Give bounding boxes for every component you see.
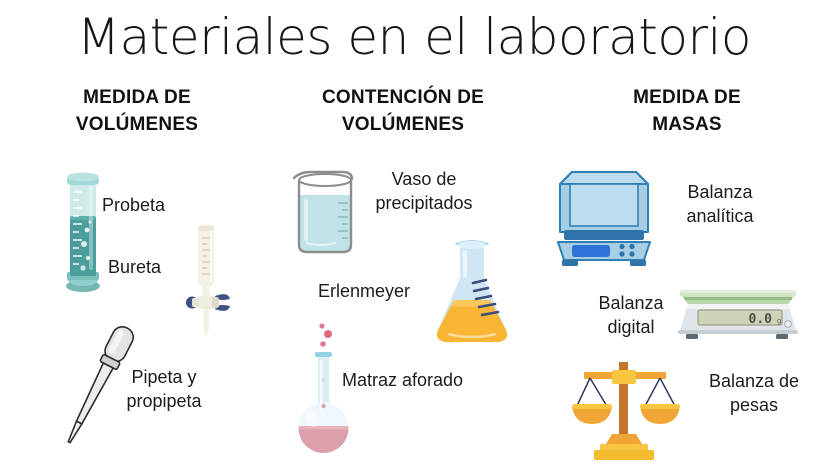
heading-line-1: MEDIDA DE: [18, 84, 256, 111]
heading-line-2: VOLÚMENES: [18, 111, 256, 138]
graduated-cylinder-icon: [60, 168, 106, 294]
heading-line-1: CONTENCIÓN DE: [268, 84, 538, 111]
heading-line-2: VOLÚMENES: [268, 111, 538, 138]
analytical-balance-icon: [550, 164, 658, 268]
heading-line-2: MASAS: [558, 111, 816, 138]
digital-scale-value: 0.0: [749, 312, 773, 327]
label-probeta: Probeta: [102, 193, 212, 217]
label-balanza-analitica: Balanza analítica: [660, 180, 780, 228]
page-title: Materiales en el laboratorio: [0, 6, 828, 68]
beaker-icon: [288, 165, 362, 261]
label-pipeta-propipeta: Pipeta y propipeta: [100, 365, 228, 413]
label-balanza-pesas: Balanza de pesas: [690, 369, 818, 417]
digital-scale-icon: 0.0 g: [676, 282, 800, 344]
label-bureta: Bureta: [108, 255, 218, 279]
label-matraz-aforado: Matraz aforado: [342, 368, 502, 392]
column-heading-medida-masas: MEDIDA DE MASAS: [558, 84, 816, 138]
label-balanza-digital: Balanza digital: [576, 291, 686, 339]
column-heading-medida-volumenes: MEDIDA DE VOLÚMENES: [18, 84, 256, 138]
label-vaso-precipitados: Vaso de precipitados: [352, 167, 496, 215]
label-erlenmeyer: Erlenmeyer: [318, 279, 442, 303]
column-heading-contencion-volumenes: CONTENCIÓN DE VOLÚMENES: [268, 84, 538, 138]
burette-icon: [178, 222, 234, 340]
beam-balance-icon: [564, 358, 686, 462]
laboratory-materials-poster: Materiales en el laboratorio MEDIDA DE V…: [0, 0, 828, 466]
digital-scale-unit: g: [777, 317, 781, 325]
heading-line-1: MEDIDA DE: [558, 84, 816, 111]
